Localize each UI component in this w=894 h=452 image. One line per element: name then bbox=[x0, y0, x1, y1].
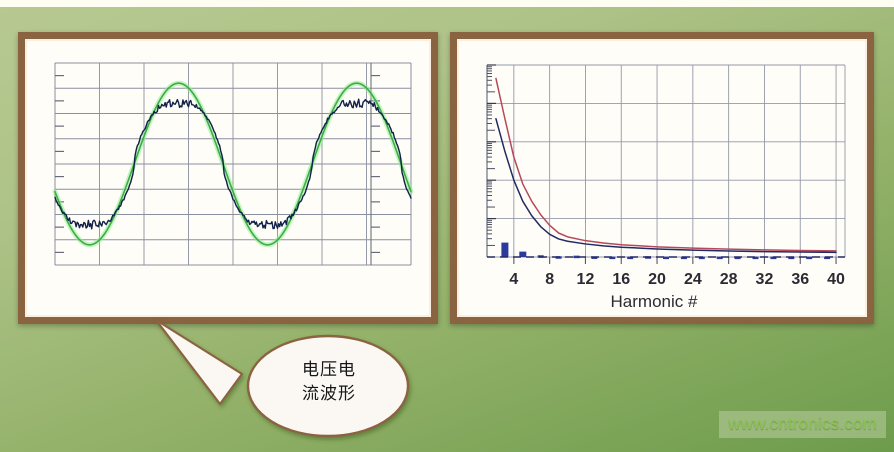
harmonic-plot: 481216202428323640Harmonic # bbox=[465, 57, 861, 315]
waveform-grid bbox=[55, 63, 411, 265]
top-edge-strip bbox=[0, 0, 894, 7]
harmonic-axis-label: Harmonic # bbox=[611, 292, 698, 311]
callout-text: 电压电 流波形 bbox=[268, 358, 390, 406]
harmonic-tick-label: 8 bbox=[545, 271, 554, 288]
left-panel-inner bbox=[25, 39, 431, 317]
callout-tail bbox=[156, 320, 242, 404]
slide-canvas: 481216202428323640Harmonic # 电压电 流波形 www… bbox=[0, 0, 894, 452]
right-panel-inner: 481216202428323640Harmonic # bbox=[457, 39, 867, 317]
voltage-current-waveform-panel bbox=[18, 32, 438, 324]
harmonic-bar bbox=[519, 252, 526, 257]
harmonic-limit-curve bbox=[496, 119, 836, 253]
harmonic-tick-label: 32 bbox=[756, 271, 774, 288]
harmonic-tick-label: 20 bbox=[648, 271, 666, 288]
waveform-plot bbox=[47, 61, 415, 283]
callout-line-2: 流波形 bbox=[268, 382, 390, 406]
harmonic-x-labels: 481216202428323640 bbox=[509, 257, 845, 288]
harmonic-spectrum-panel: 481216202428323640Harmonic # bbox=[450, 32, 874, 324]
harmonic-y-ticks bbox=[487, 65, 496, 245]
harmonic-bar bbox=[806, 257, 812, 260]
harmonic-tick-label: 24 bbox=[684, 271, 702, 288]
callout-balloon: 电压电 流波形 bbox=[150, 318, 410, 440]
harmonic-bar bbox=[501, 243, 508, 257]
harmonic-limit-curve bbox=[496, 78, 836, 250]
harmonic-tick-label: 28 bbox=[720, 271, 738, 288]
harmonic-tick-label: 36 bbox=[791, 271, 809, 288]
harmonic-tick-label: 12 bbox=[577, 271, 595, 288]
harmonic-tick-label: 4 bbox=[509, 271, 518, 288]
harmonic-grid bbox=[487, 65, 845, 257]
harmonic-tick-label: 16 bbox=[612, 271, 630, 288]
waveform-svg bbox=[47, 61, 415, 283]
callout-line-1: 电压电 bbox=[268, 358, 390, 382]
harmonic-svg: 481216202428323640Harmonic # bbox=[465, 57, 861, 315]
watermark: www.cntronics.com bbox=[719, 411, 886, 438]
harmonic-tick-label: 40 bbox=[827, 271, 845, 288]
